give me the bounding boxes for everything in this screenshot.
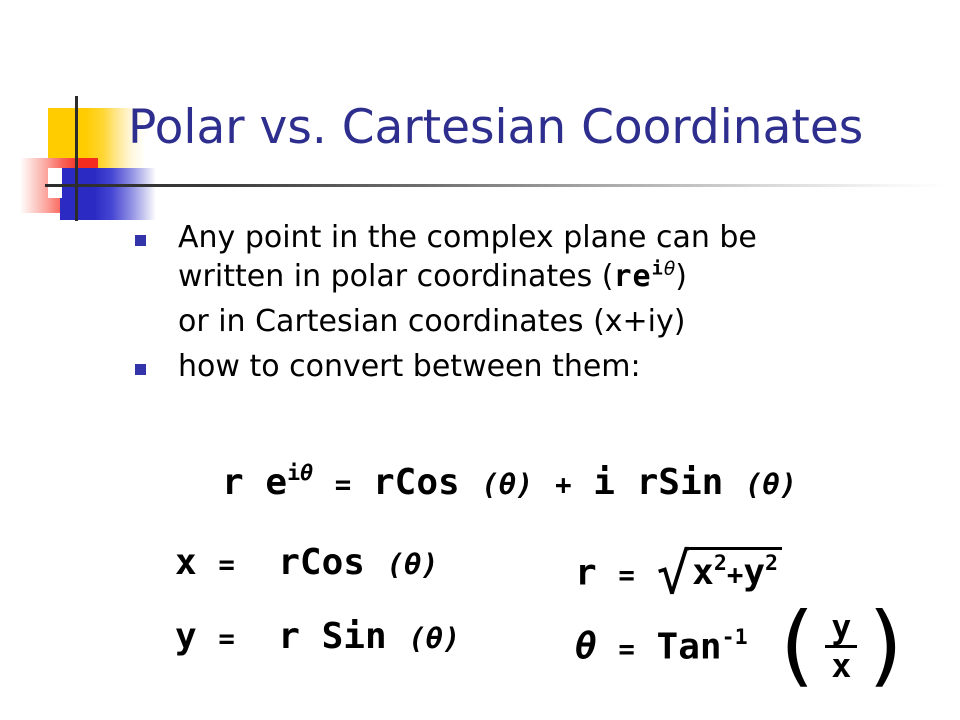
euler-cos: Cos [395,462,460,503]
y-equals: = [218,624,234,655]
bullet-square-icon [135,364,146,375]
y-r: r [278,616,300,657]
x-equals: = [218,550,234,581]
bullet-1-line-2: written in polar coordinates (reiθ) [178,257,952,296]
vertical-rule [75,96,78,221]
r-x: x [692,552,714,593]
y-fn: Sin [322,616,387,657]
bullet-1-line-2-prefix: written in polar coordinates ( [178,259,613,294]
slide-body: Any point in the complex plane can be wr… [132,218,952,386]
euler-sin-arg: (θ) [745,467,797,501]
euler-exponent-theta: θ [300,461,313,486]
slide-canvas: Polar vs. Cartesian Coordinates Any poin… [0,0,960,720]
bullet-1-continuation: or in Cartesian coordinates (x+iy) [132,302,952,341]
r-y: y [743,552,765,593]
x-r: r [278,542,300,583]
euler-exponent-i: i [287,461,300,486]
theta-fn: Tan [657,626,722,667]
x-lhs: x [175,542,197,583]
equation-euler: r eiθ = rCos (θ) + i rSin (θ) [222,462,797,503]
right-paren: ) [860,611,913,680]
equation-r: r = √x2+y2 [575,542,782,607]
euler-sin: Sin [658,462,723,503]
bullet-square-icon [135,235,146,246]
euler-i: i [593,462,615,503]
equation-y: y = r Sin (θ) [175,616,460,657]
bullet-item-1: Any point in the complex plane can be wr… [132,218,952,296]
page-title: Polar vs. Cartesian Coordinates [128,98,940,158]
euler-cos-arg: (θ) [481,467,533,501]
euler-e: e [265,462,287,503]
polar-exponent-i: i [652,258,664,279]
theta-lhs: θ [575,626,597,667]
r-y-exponent: 2 [765,551,778,576]
theta-fn-exponent: -1 [722,625,748,650]
equation-x: x = rCos (θ) [175,542,439,583]
left-paren: ( [769,611,822,680]
r-x-exponent: 2 [714,551,727,576]
r-equals: = [618,561,634,592]
euler-plus: + [555,470,571,501]
polar-r-symbol: r [613,259,632,294]
radical-icon: √ [657,542,691,607]
bullet-2-line-1: how to convert between them: [178,347,952,386]
horizontal-rule [45,184,945,187]
bullet-1-line-1: Any point in the complex plane can be [178,218,952,257]
polar-exponent-theta: θ [664,258,675,279]
square-root-group: √x2+y2 [657,542,782,607]
fraction-numerator: y [825,610,857,648]
white-notch-shape [48,168,62,198]
fraction-denominator: x [825,648,857,683]
r-plus: + [727,560,743,591]
x-fn: Cos [300,542,365,583]
euler-r: r [222,462,244,503]
fraction-y-over-x: yx [822,610,860,683]
euler-equals: = [335,470,351,501]
euler-rhs-r: r [373,462,395,503]
r-lhs: r [575,553,597,594]
y-arg: (θ) [408,621,460,655]
theta-equals: = [618,634,634,665]
equation-theta: θ = Tan-1 (yx) [575,612,913,685]
radicand: x2+y2 [686,547,782,593]
polar-e-symbol: e [633,259,652,294]
euler-sin-r: r [637,462,659,503]
bullet-1-line-2-suffix: ) [675,259,687,294]
bullet-item-2: how to convert between them: [132,347,952,386]
fraction-group: (yx) [769,610,913,683]
y-lhs: y [175,616,197,657]
x-arg: (θ) [387,547,439,581]
